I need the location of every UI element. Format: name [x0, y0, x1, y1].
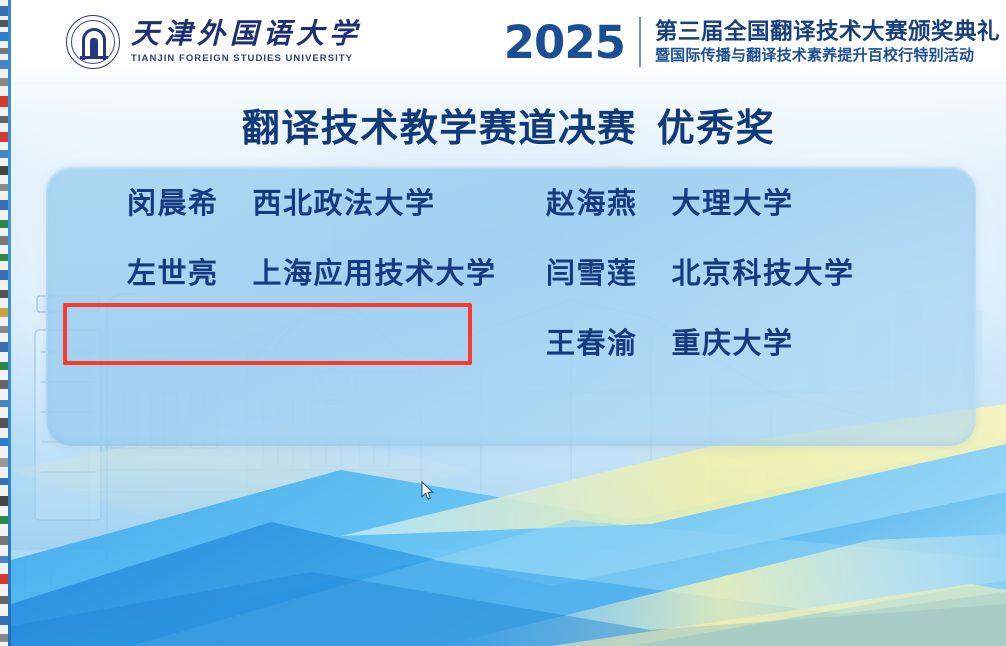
- slide-title-main: 翻译技术教学赛道决赛: [242, 108, 637, 150]
- winners-list: 闵晨希 西北政法大学 左世亮 上海应用技术大学 赵海燕 大理大学 闫雪莲 北京科…: [46, 166, 976, 446]
- winner-school: 北京科技大学: [672, 250, 855, 292]
- university-name-en: TIANJIN FOREIGN STUDIES UNIVERSITY: [131, 53, 362, 64]
- winner-name: 闫雪莲: [546, 250, 638, 292]
- winner-row[interactable]: 赵海燕 大理大学: [536, 166, 966, 236]
- slide-stage: 天津外国语大学 TIANJIN FOREIGN STUDIES UNIVERSI…: [11, 0, 1006, 646]
- event-divider: [639, 17, 641, 67]
- winner-name: 左世亮: [127, 250, 219, 292]
- event-title-line2: 暨国际传播与翻译技术素养提升百校行特别活动: [655, 48, 1000, 64]
- slide-title-award: 优秀奖: [657, 108, 776, 150]
- mouse-pointer-icon: [421, 481, 435, 501]
- winner-row[interactable]: 王春渝 重庆大学: [536, 306, 966, 376]
- university-seal-icon: [66, 15, 120, 69]
- winner-school: 大理大学: [672, 180, 794, 222]
- winners-column-left: 闵晨希 西北政法大学 左世亮 上海应用技术大学: [101, 166, 531, 306]
- slide-title: 翻译技术教学赛道决赛优秀奖: [11, 97, 1006, 152]
- winner-row-highlighted[interactable]: 左世亮 上海应用技术大学: [101, 236, 531, 306]
- background-window-sliver[interactable]: [0, 0, 8, 646]
- winner-school: 西北政法大学: [253, 180, 436, 222]
- winners-column-right: 赵海燕 大理大学 闫雪莲 北京科技大学 王春渝 重庆大学: [536, 166, 966, 376]
- event-title-block: 2025 第三届全国翻译技术大赛颁奖典礼 暨国际传播与翻译技术素养提升百校行特别…: [504, 8, 1000, 76]
- winner-name: 闵晨希: [127, 180, 219, 222]
- event-year: 2025: [504, 20, 625, 65]
- winner-name: 赵海燕: [546, 180, 638, 222]
- university-name-cn: 天津外国语大学: [131, 20, 362, 49]
- winner-row[interactable]: 闵晨希 西北政法大学: [101, 166, 531, 236]
- winner-school: 重庆大学: [672, 320, 794, 362]
- winner-row[interactable]: 闫雪莲 北京科技大学: [536, 236, 966, 306]
- winner-name: 王春渝: [546, 320, 638, 362]
- event-title-line1: 第三届全国翻译技术大赛颁奖典礼: [655, 20, 1000, 44]
- winner-school: 上海应用技术大学: [253, 250, 497, 292]
- window-edge-rule: [8, 0, 11, 646]
- screen: 天津外国语大学 TIANJIN FOREIGN STUDIES UNIVERSI…: [0, 0, 1006, 646]
- university-logo-lockup: 天津外国语大学 TIANJIN FOREIGN STUDIES UNIVERSI…: [66, 11, 362, 73]
